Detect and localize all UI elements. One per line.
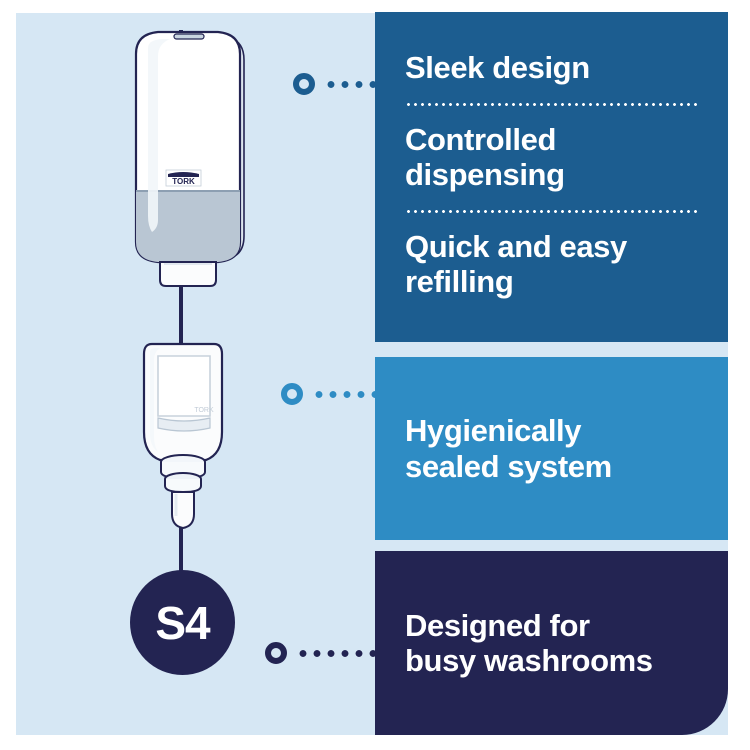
size-code-badge: S4 [130, 570, 235, 675]
refill-cartridge-illustration: TORK [128, 336, 238, 536]
feature-text: Sleek design [405, 38, 698, 97]
ring-icon [265, 642, 287, 664]
feature-panel-secondary: Hygienically sealed system [375, 357, 728, 540]
infographic-root: TORK TORK S4 [0, 0, 750, 750]
feature-text: Controlled dispensing [405, 110, 698, 204]
feature-text: Quick and easy refilling [405, 217, 698, 311]
ring-icon [281, 383, 303, 405]
feature-text: Hygienically sealed system [405, 413, 698, 483]
svg-text:TORK: TORK [172, 177, 195, 186]
tork-logo: TORK [166, 170, 201, 186]
feature-text: Designed for busy washrooms [405, 608, 698, 678]
feature-panel-tertiary: Designed for busy washrooms [375, 551, 728, 735]
svg-text:TORK: TORK [194, 407, 214, 414]
dispenser-illustration: TORK [118, 20, 258, 290]
size-code-label: S4 [155, 596, 209, 650]
product-illustration-column: TORK TORK S4 [0, 0, 375, 750]
ring-icon [293, 73, 315, 95]
feature-divider [405, 210, 698, 213]
feature-panel-primary: Sleek design Controlled dispensing Quick… [375, 12, 728, 342]
feature-divider [405, 103, 698, 106]
